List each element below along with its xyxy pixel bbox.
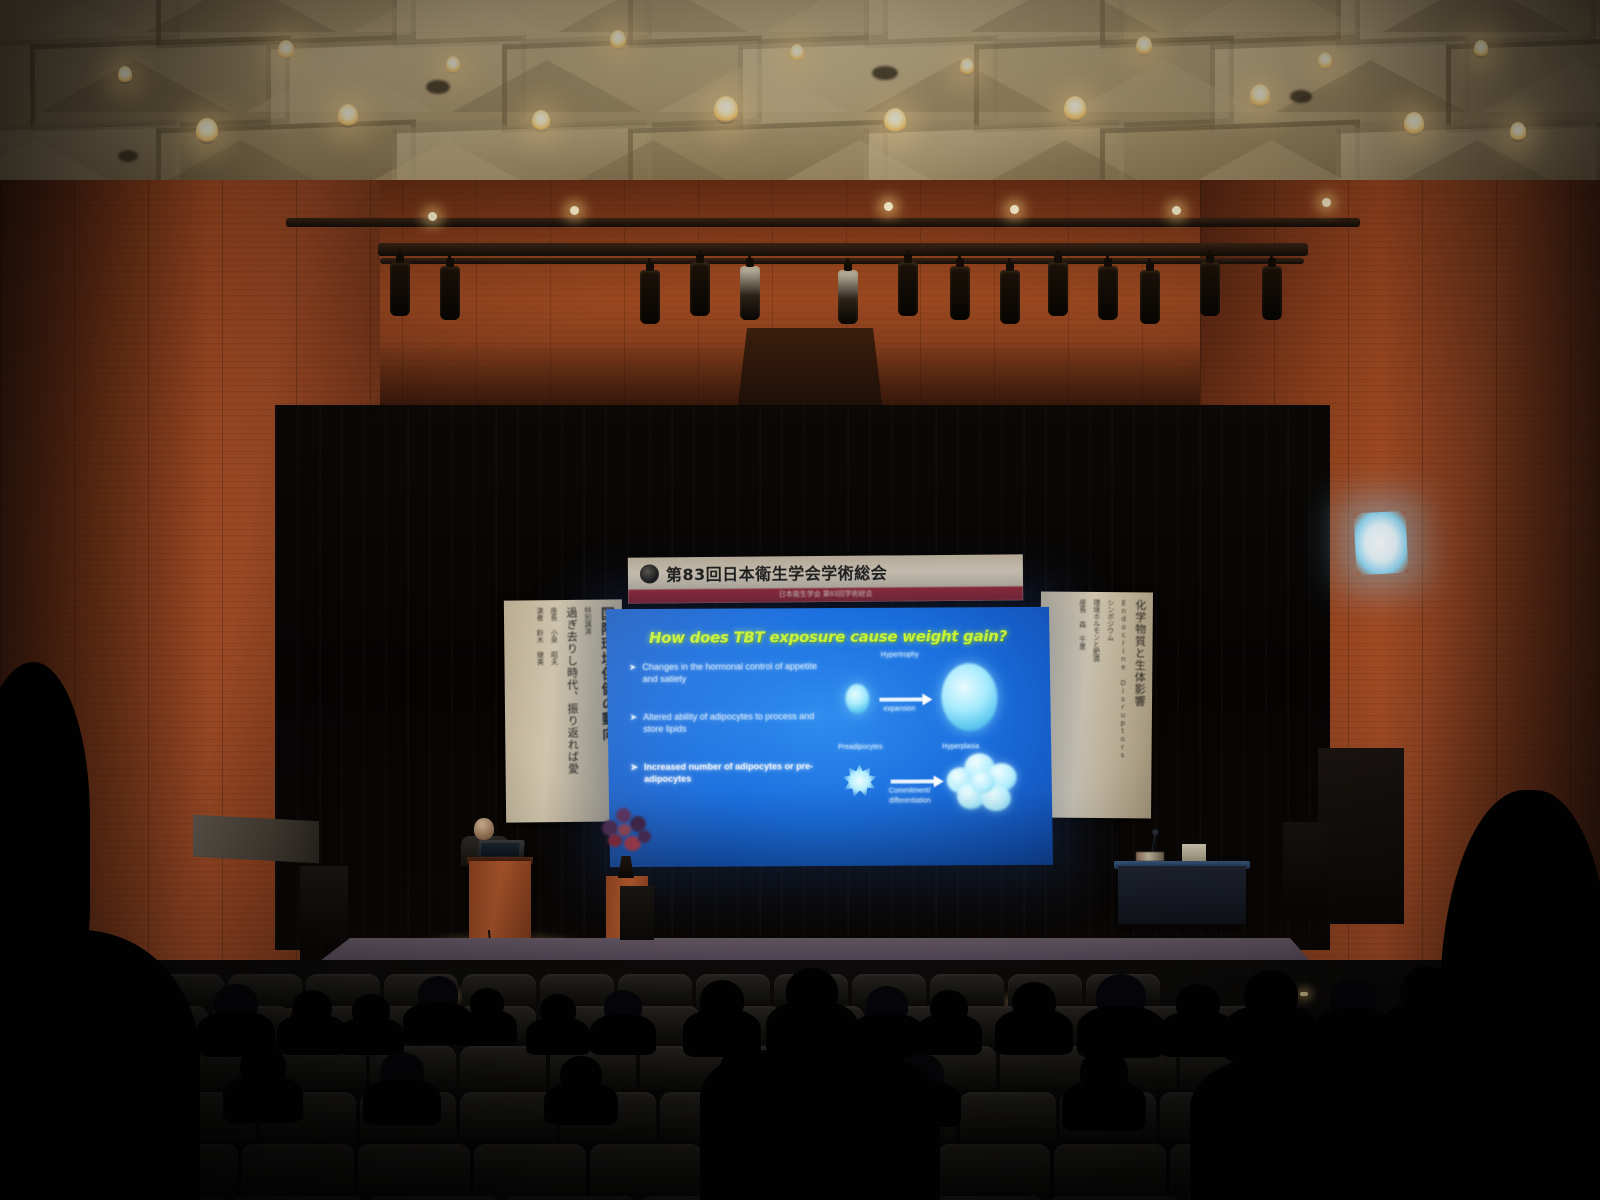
audience-member — [1330, 978, 1378, 1020]
truss-accent-light — [428, 212, 437, 221]
ceiling-downlight — [1474, 40, 1488, 58]
ceiling-downlight — [790, 44, 804, 62]
slide-title: How does TBT exposure cause weight gain? — [606, 627, 1049, 647]
audience-member — [418, 976, 458, 1012]
projected-slide: How does TBT exposure cause weight gain?… — [606, 607, 1053, 867]
audience-member — [214, 984, 258, 1022]
stage-light-fixture — [1000, 270, 1020, 324]
theater-seat — [460, 1092, 556, 1141]
ceiling-vent — [1290, 90, 1312, 103]
society-emblem-icon — [640, 564, 659, 583]
slide-bullet-list: ➤ Changes in the hormonal control of app… — [629, 660, 831, 811]
ceiling-vent — [426, 80, 450, 94]
label-commitment: Commitment/ — [889, 787, 931, 795]
stage-left-speaker — [300, 866, 348, 940]
adipocyte-diagram: Hypertrophy expansion Preadipocytes Hype… — [835, 651, 1038, 842]
stage-loudspeaker — [1283, 822, 1327, 920]
ceiling-downlight — [338, 104, 358, 128]
audience-member — [470, 988, 504, 1018]
wall-air-grill — [193, 815, 319, 864]
truss-accent-light — [1172, 206, 1181, 215]
stage-light-fixture — [1262, 266, 1282, 320]
label-expansion: expansion — [884, 706, 916, 713]
ceiling-downlight — [1064, 96, 1086, 122]
stage-light-fixture — [838, 270, 858, 324]
theater-seat — [1048, 1196, 1180, 1200]
label-hypertrophy: Hypertrophy — [881, 652, 919, 659]
expansion-arrow-icon — [879, 698, 923, 702]
truss-bar-lower — [380, 258, 1304, 264]
left-banner-small-1: 特別講演 — [583, 607, 595, 815]
left-banner-small-3: 演者 鈴木 継美 — [535, 607, 547, 815]
aisle-step-light — [1300, 992, 1308, 996]
table-items — [1136, 852, 1164, 861]
theater-seat — [960, 1092, 1056, 1141]
right-banner-small-3: 座長 森 千里 — [1076, 599, 1088, 811]
ceiling-downlight — [1510, 122, 1526, 142]
audience-member — [786, 968, 838, 1014]
audience-member — [240, 1046, 286, 1086]
truss-accent-light — [884, 202, 893, 211]
conference-banner: 第83回日本衛生学会学術総会 日本衛生学会 第83回学術総会 — [628, 554, 1023, 603]
theater-seat — [590, 1144, 702, 1198]
list-item: ➤ Changes in the hormonal control of app… — [629, 660, 829, 685]
theater-seat — [1054, 1144, 1166, 1198]
foreground-shoulders-center — [700, 1050, 940, 1200]
foreground-shoulders-right — [1190, 1050, 1490, 1200]
ceiling-downlight — [1136, 36, 1152, 56]
bullet-text: Altered ability of adipocytes to process… — [643, 710, 830, 735]
truss-accent-light — [1322, 198, 1331, 207]
stem-cell-starburst — [842, 764, 877, 798]
hypertrophic-adipocyte — [941, 663, 998, 731]
audience-member — [1244, 970, 1298, 1018]
right-banner-small-1: Endocrine Disruptors — [1118, 599, 1128, 811]
wall-light-panel — [1353, 511, 1408, 576]
ceiling-downlight — [446, 56, 460, 74]
truss-accent-light — [1010, 205, 1019, 214]
stage-light-fixture — [740, 266, 760, 320]
left-banner-small-2: 座長 小泉 昭夫 — [549, 607, 561, 815]
theater-seat — [242, 1144, 354, 1198]
audience-member — [1176, 984, 1220, 1022]
chairperson-table — [1118, 866, 1246, 924]
stage-riser-block — [620, 886, 654, 940]
bullet-arrow-icon: ➤ — [630, 711, 638, 735]
auditorium-photo: 第83回日本衛生学会学術総会 日本衛生学会 第83回学術総会 国際環境保健の動向… — [0, 0, 1600, 1200]
banner-main-row: 第83回日本衛生学会学術総会 — [628, 554, 1023, 589]
audience-member — [560, 1056, 602, 1092]
ceiling-vent — [118, 150, 138, 162]
audience-member — [380, 1052, 424, 1090]
truss-accent-light — [570, 206, 579, 215]
bullet-text: Changes in the hormonal control of appet… — [642, 660, 829, 685]
stage-light-fixture — [640, 270, 660, 324]
stage-light-fixture — [1140, 270, 1160, 324]
right-program-banner: 化学物質と生体影響 Endocrine Disruptors シンポジウム 環境… — [1039, 592, 1153, 819]
left-banner-secondary: 過ぎ去りし時代、振り返れば愛 — [563, 607, 581, 815]
bullet-arrow-icon: ➤ — [630, 761, 638, 785]
audience-member — [1080, 1050, 1128, 1092]
audience-member — [1012, 982, 1056, 1020]
audience-member — [1096, 974, 1146, 1018]
speaker-podium — [469, 861, 531, 947]
stage-light-fixture — [690, 262, 710, 316]
audience-member — [540, 994, 576, 1026]
right-banner-small-2: 環境ホルモンと肥満 — [1090, 599, 1102, 811]
ceiling-downlight — [610, 30, 626, 50]
theater-seat — [232, 1196, 364, 1200]
stage-light-fixture — [950, 266, 970, 320]
ceiling-downlight — [1318, 52, 1332, 70]
theater-seat — [938, 1144, 1050, 1198]
list-item: ➤ Increased number of adipocytes or pre-… — [630, 760, 830, 785]
theater-seat — [368, 1196, 500, 1200]
stage-light-fixture — [1048, 262, 1068, 316]
audience-member — [604, 990, 642, 1024]
speaker-head — [474, 818, 494, 840]
banner-title: 第83回日本衛生学会学術総会 — [666, 559, 887, 585]
stage-light-fixture — [440, 266, 460, 320]
ceiling-downlight — [196, 118, 218, 144]
stage-light-fixture — [898, 262, 918, 316]
right-banner-headline: 化学物質と生体影響 — [1130, 599, 1148, 811]
ceiling-downlight — [1404, 112, 1424, 136]
bullet-arrow-icon: ➤ — [629, 661, 637, 685]
list-item: ➤ Altered ability of adipocytes to proce… — [630, 710, 830, 735]
ceiling-downlight — [278, 40, 294, 60]
ceiling-downlight — [532, 110, 550, 132]
ceiling-downlight — [118, 66, 132, 84]
bullet-text: Increased number of adipocytes or pre-ad… — [644, 760, 831, 785]
stage-light-fixture — [1200, 262, 1220, 316]
stage-light-fixture — [390, 262, 410, 316]
ceiling-vent — [872, 66, 898, 80]
theater-seat — [504, 1196, 636, 1200]
differentiation-arrow-icon — [891, 779, 935, 783]
audience-member — [930, 990, 968, 1024]
theater-seat — [474, 1144, 586, 1198]
truss-bar-main — [378, 243, 1308, 256]
preadipocyte-cell-small — [845, 684, 869, 714]
audience-member — [700, 980, 744, 1020]
theater-seat — [358, 1144, 470, 1198]
flower-arrangement — [598, 806, 656, 862]
ceiling-downlight — [714, 96, 738, 124]
label-hyperplasia: Hyperplasia — [942, 743, 979, 750]
stage-light-fixture — [1098, 266, 1118, 320]
label-differentiation: differentiation — [889, 797, 931, 805]
right-banner-secondary: シンポジウム — [1104, 599, 1116, 811]
truss-bar-upper — [286, 218, 1360, 227]
audience-member — [292, 990, 332, 1024]
ceiling-downlight — [960, 58, 974, 76]
projection-screen: How does TBT exposure cause weight gain?… — [606, 607, 1053, 867]
audience-member — [352, 994, 390, 1026]
stage-right-flat — [1318, 748, 1404, 924]
hyperplastic-cell-cluster — [944, 751, 1023, 815]
label-preadipocytes: Preadipocytes — [838, 744, 882, 751]
ceiling-downlight — [1250, 84, 1270, 108]
ceiling-downlight — [884, 108, 906, 134]
audience-member — [866, 986, 908, 1024]
